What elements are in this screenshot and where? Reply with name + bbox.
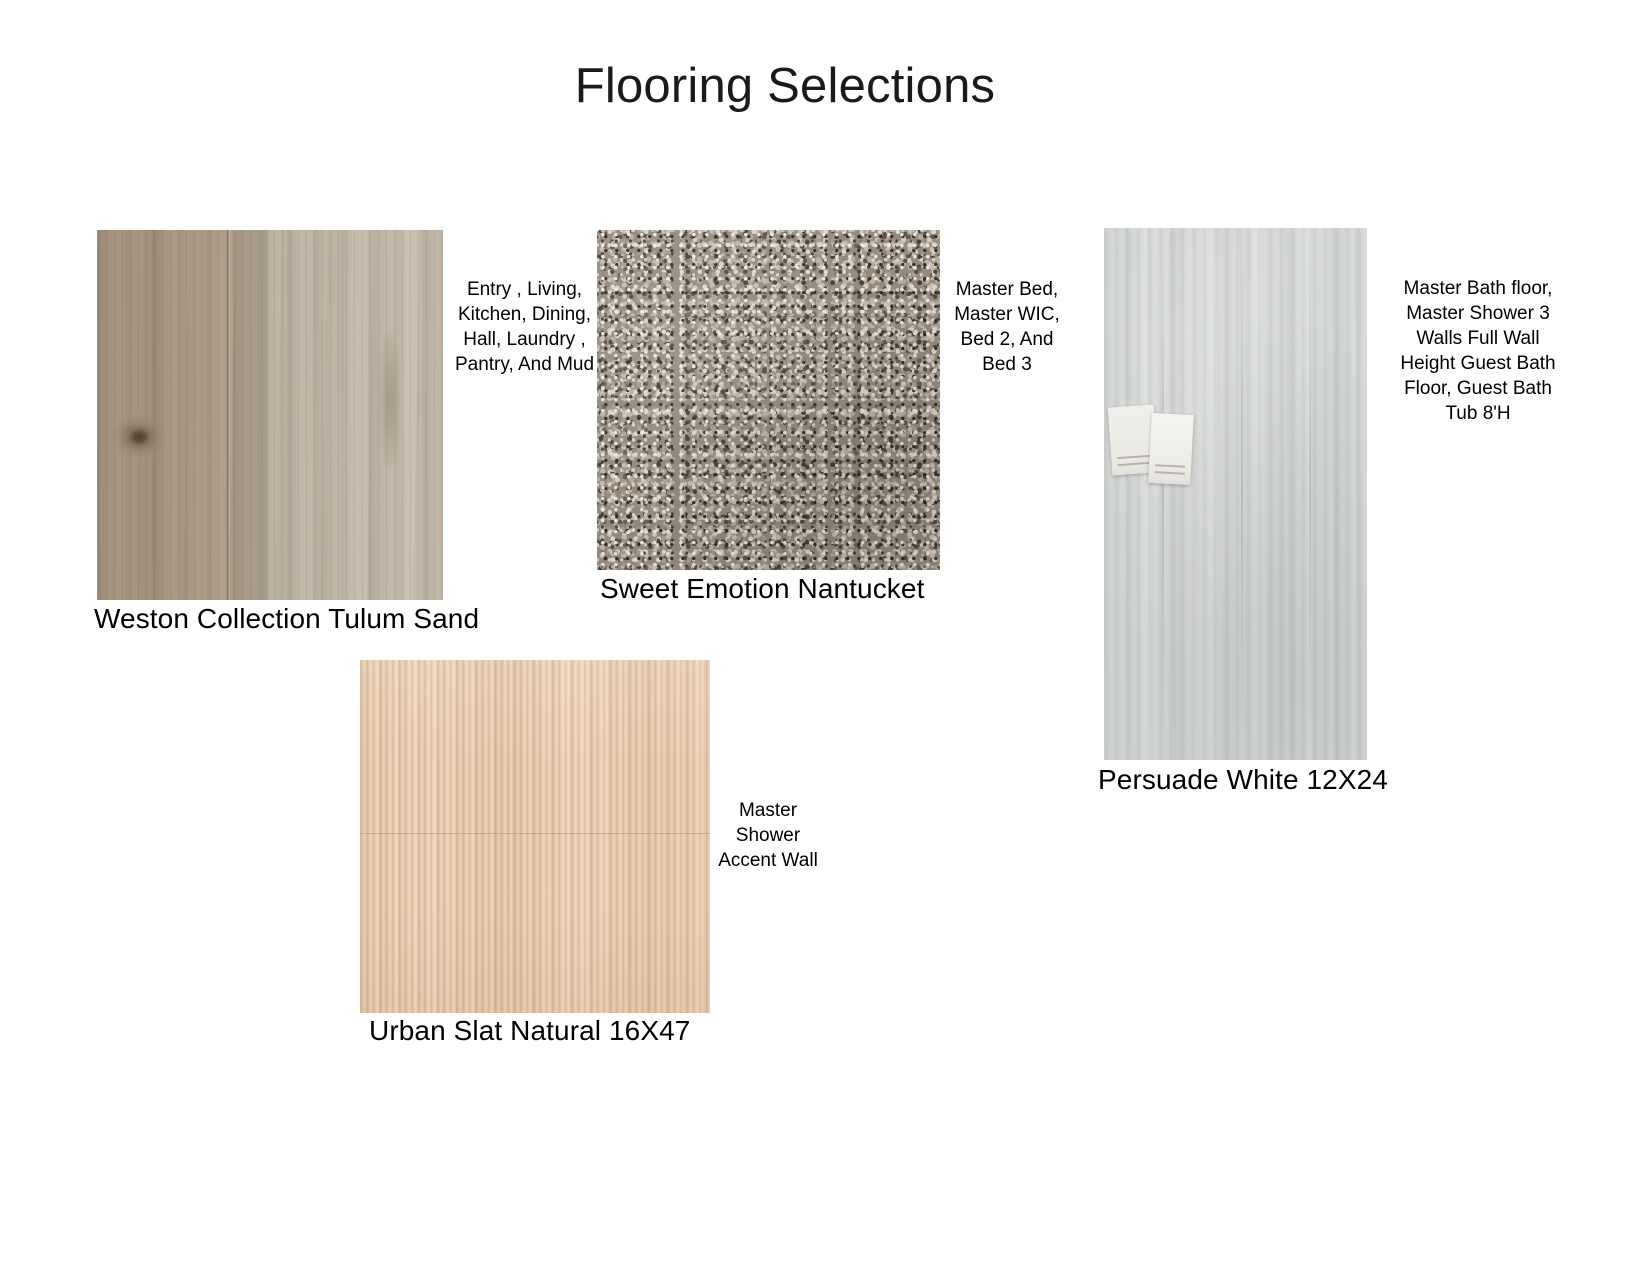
paint-chip-sample-right[interactable]	[1148, 413, 1194, 485]
selection-description-sweet-emotion: Master Bed, Master WIC, Bed 2, And Bed 3	[947, 277, 1067, 377]
paint-chip-label-line	[1155, 464, 1185, 468]
selection-description-weston: Entry , Living, Kitchen, Dining, Hall, L…	[447, 277, 602, 377]
selection-caption-weston: Weston Collection Tulum Sand	[94, 603, 479, 635]
page-title: Flooring Selections	[0, 60, 1570, 114]
swatch-image-wood-plank[interactable]	[97, 230, 443, 600]
wood-plank-seam	[227, 230, 230, 600]
tile-streak	[1241, 228, 1243, 760]
paint-chip-label-line	[1118, 462, 1152, 466]
selection-description-persuade-white: Master Bath floor, Master Shower 3 Walls…	[1394, 276, 1562, 426]
carpet-shading-overlay	[597, 230, 940, 570]
selection-caption-urban-slat: Urban Slat Natural 16X47	[369, 1015, 690, 1047]
selection-description-urban-slat: Master Shower Accent Wall	[708, 798, 828, 873]
tile-streak	[1162, 228, 1164, 760]
swatch-image-carpet[interactable]	[597, 230, 940, 570]
tile-grain-texture	[1104, 228, 1367, 760]
slat-shading-overlay	[360, 660, 710, 1013]
swatch-image-tile[interactable]	[1104, 228, 1367, 760]
swatch-image-slat-wood[interactable]	[360, 660, 710, 1013]
selection-caption-persuade-white: Persuade White 12X24	[1098, 764, 1388, 796]
selection-caption-sweet-emotion: Sweet Emotion Nantucket	[600, 573, 924, 605]
paint-chip-label-line	[1117, 455, 1151, 459]
wood-knot-secondary-icon	[380, 330, 400, 470]
tile-streak	[1309, 228, 1311, 760]
paint-chip-label-line	[1155, 471, 1185, 475]
